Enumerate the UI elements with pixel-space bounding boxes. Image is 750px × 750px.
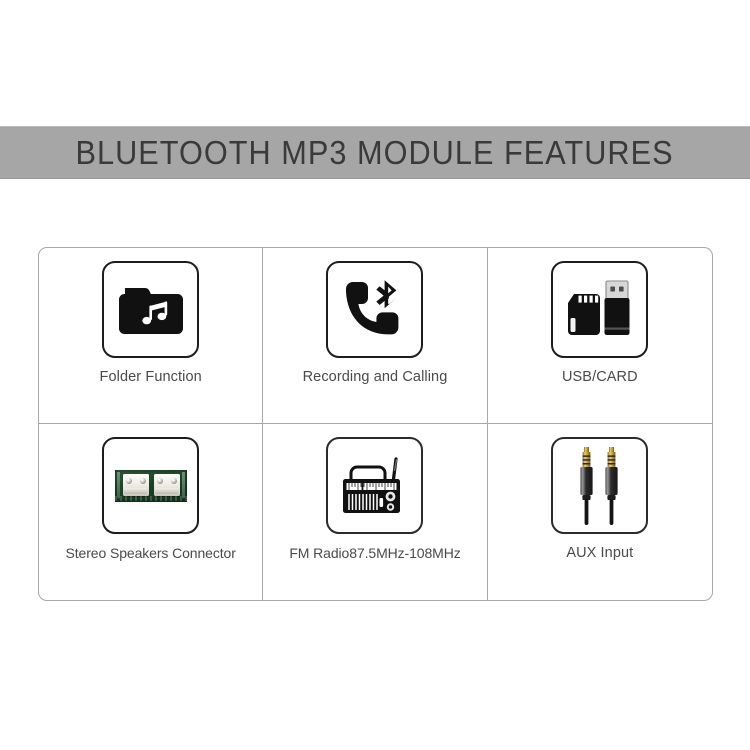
- icon-box-stereo-speakers-connector: [102, 437, 199, 534]
- icon-box-usb-card: [551, 261, 648, 358]
- connector-base-right: [155, 488, 178, 494]
- feature-cell-fm-radio[interactable]: FM Radio87.5MHz-108MHz: [263, 424, 487, 600]
- feature-label-folder-function: Folder Function: [100, 369, 202, 385]
- pcb-edge-left: [117, 472, 120, 498]
- icon-box-fm-radio: [326, 437, 423, 534]
- speaker-connector-right: [154, 474, 180, 496]
- icon-box-recording-and-calling: [326, 261, 423, 358]
- feature-label-aux-input: AUX Input: [566, 545, 633, 561]
- feature-label-stereo-speakers-connector: Stereo Speakers Connector: [66, 545, 236, 561]
- pcb-edge-right: [182, 472, 185, 498]
- icon-box-folder-function: [102, 261, 199, 358]
- feature-cell-recording-and-calling[interactable]: Recording and Calling: [263, 248, 487, 424]
- feature-cell-aux-input[interactable]: AUX Input: [488, 424, 712, 600]
- connector-base-left: [124, 488, 147, 494]
- pcb-connector-photo: [115, 470, 187, 502]
- feature-grid: Folder Function Recording and Calling: [38, 247, 713, 601]
- feature-label-recording-and-calling: Recording and Calling: [303, 369, 448, 385]
- feature-cell-folder-function[interactable]: Folder Function: [39, 248, 263, 424]
- icon-box-aux-input: [551, 437, 648, 534]
- speaker-connector-left: [123, 474, 149, 496]
- feature-cell-stereo-speakers-connector[interactable]: Stereo Speakers Connector: [39, 424, 263, 600]
- feature-label-fm-radio: FM Radio87.5MHz-108MHz: [289, 545, 460, 561]
- feature-cell-usb-card[interactable]: USB/CARD: [488, 248, 712, 424]
- music-folder-icon: [115, 279, 187, 341]
- aux-jack-icon: [568, 444, 632, 528]
- phone-bluetooth-icon: [338, 277, 412, 343]
- feature-label-usb-card: USB/CARD: [562, 369, 638, 385]
- header-band: BLUETOOTH MP3 MODULE FEATURES: [0, 126, 750, 179]
- radio-icon: [336, 453, 414, 519]
- page-title: BLUETOOTH MP3 MODULE FEATURES: [76, 134, 674, 172]
- usb-sdcard-icon: [562, 277, 638, 343]
